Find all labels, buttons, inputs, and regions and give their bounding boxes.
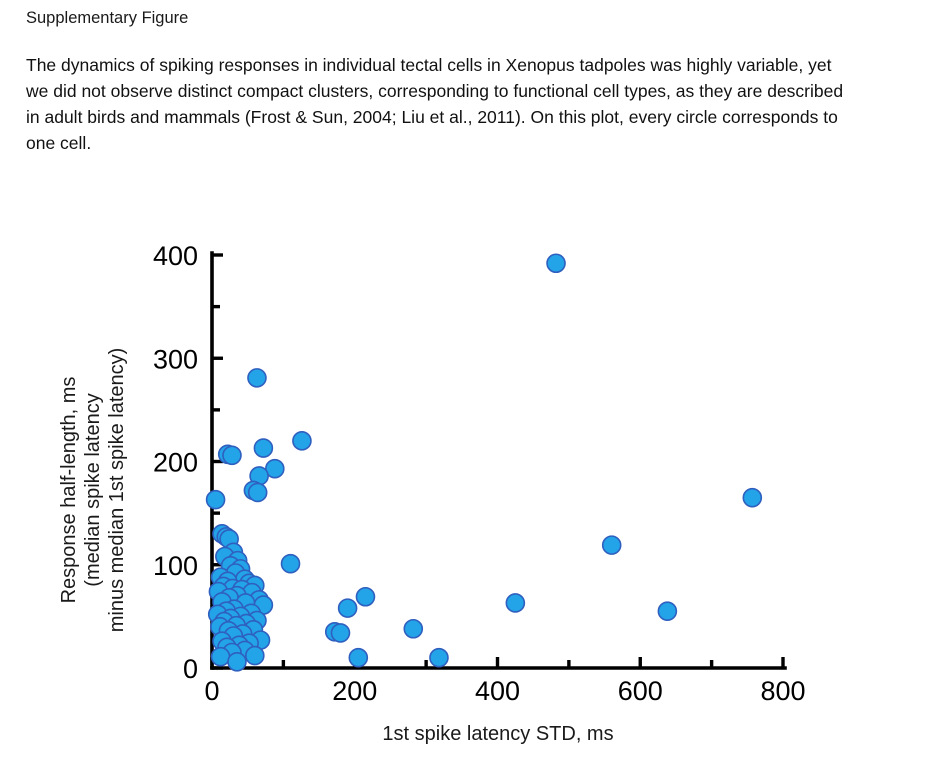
data-point [223, 446, 241, 464]
data-point [506, 594, 524, 612]
y-tick-label: 200 [153, 448, 198, 478]
data-point [430, 649, 448, 667]
x-axis-title: 1st spike latency STD, ms [382, 723, 613, 745]
x-tick-label: 400 [475, 676, 520, 706]
data-point [356, 588, 374, 606]
y-axis-title-line-1: Response half-length, ms [58, 377, 80, 604]
y-axis-title-line-3: minus median 1st spike latency) [106, 348, 128, 633]
figure-title: Supplementary Figure [26, 8, 876, 28]
data-point [282, 555, 300, 573]
data-point [603, 536, 621, 554]
data-points-layer [207, 254, 762, 671]
data-point [547, 254, 565, 272]
data-point [212, 648, 230, 666]
y-tick-label: 300 [153, 344, 198, 374]
scatter-plot-svg: Response half-length, ms (median spike l… [0, 200, 926, 768]
figure-caption-text: The dynamics of spiking responses in ind… [26, 52, 856, 156]
caption-block: Supplementary Figure The dynamics of spi… [26, 8, 876, 156]
data-point [339, 599, 357, 617]
data-point [254, 439, 272, 457]
x-tick-label: 0 [204, 676, 219, 706]
data-point [248, 369, 266, 387]
y-tick-label: 100 [153, 551, 198, 581]
x-tick-label: 200 [332, 676, 377, 706]
data-point [249, 483, 267, 501]
y-tick-label: 400 [153, 241, 198, 271]
data-point [331, 624, 349, 642]
data-point [404, 620, 422, 638]
scatter-plot-figure: Response half-length, ms (median spike l… [0, 200, 926, 768]
data-point [743, 489, 761, 507]
data-point [293, 432, 311, 450]
data-point [228, 653, 246, 671]
data-point [207, 491, 225, 509]
y-axis-title: Response half-length, ms (median spike l… [58, 348, 128, 633]
data-point [658, 602, 676, 620]
x-tick-label: 800 [760, 676, 805, 706]
data-point [246, 647, 264, 665]
data-point [349, 649, 367, 667]
y-axis-title-line-2: (median spike latency [82, 393, 104, 586]
y-tick-label: 0 [183, 654, 198, 684]
x-tick-label: 600 [618, 676, 663, 706]
